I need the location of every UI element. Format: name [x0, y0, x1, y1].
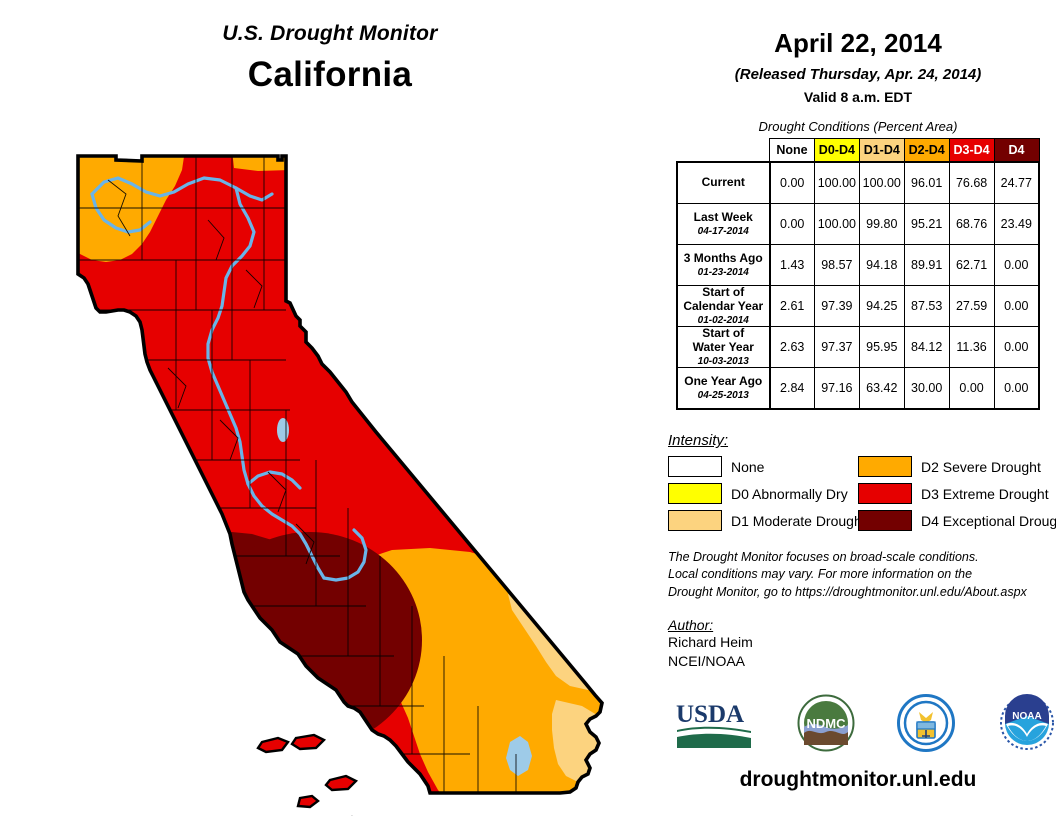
table-cell-value: 100.00: [814, 162, 859, 204]
legend-label: D0 Abnormally Dry: [731, 486, 848, 502]
table-row-label-line: Current: [678, 176, 769, 190]
drought-fill-layers: [0, 120, 660, 816]
table-cell-value: 63.42: [859, 368, 904, 410]
table-cell-value: 27.59: [949, 286, 994, 327]
table-cell-value: 2.84: [770, 368, 815, 410]
table-cell-value: 11.36: [949, 327, 994, 368]
california-drought-map[interactable]: [0, 120, 660, 816]
legend-item-none: None: [668, 456, 858, 477]
legend-swatch-d4: [858, 510, 912, 531]
table-row-date: 10-03-2013: [678, 356, 769, 368]
table-cell-value: 24.77: [994, 162, 1039, 204]
table-row-label: Start ofCalendar Year01-02-2014: [677, 286, 770, 327]
report-date: April 22, 2014: [660, 28, 1056, 59]
column-header-d3-d4: D3-D4: [949, 139, 994, 163]
table-cell-value: 2.63: [770, 327, 815, 368]
table-cell-value: 0.00: [994, 368, 1039, 410]
legend-item-d4: D4 Exceptional Drought: [858, 510, 1048, 531]
california-map-svg[interactable]: [0, 120, 660, 816]
legend-swatch-none: [668, 456, 722, 477]
column-header-d4: D4: [994, 139, 1039, 163]
disclaimer-text: The Drought Monitor focuses on broad-sca…: [668, 549, 1056, 601]
table-cell-value: 99.80: [859, 204, 904, 245]
island-santa-catalina: [326, 776, 356, 790]
table-row-label-line: Calendar Year: [678, 300, 769, 314]
table-row-label: Current: [677, 162, 770, 204]
table-cell-value: 0.00: [994, 245, 1039, 286]
logo-row: USDA NDMC: [674, 688, 1056, 762]
island-santa-cruz: [258, 738, 288, 752]
table-cell-value: 23.49: [994, 204, 1039, 245]
map-title-state: California: [0, 55, 660, 95]
legend-swatch-d0: [668, 483, 722, 504]
san-francisco-bay: [152, 540, 178, 566]
lake-tahoe: [277, 418, 289, 442]
table-cell-value: 76.68: [949, 162, 994, 204]
legend-label: D1 Moderate Drought: [731, 513, 866, 529]
table-cell-value: 0.00: [949, 368, 994, 410]
drought-conditions-table: None D0-D4 D1-D4 D2-D4 D3-D4 D4 Current0…: [676, 138, 1040, 410]
disclaimer-line-3: Drought Monitor, go to https://droughtmo…: [668, 584, 1056, 601]
table-cell-value: 95.95: [859, 327, 904, 368]
table-cell-value: 62.71: [949, 245, 994, 286]
date-block: April 22, 2014 (Released Thursday, Apr. …: [660, 0, 1056, 105]
table-cell-value: 96.01: [904, 162, 949, 204]
table-cell-value: 89.91: [904, 245, 949, 286]
table-cell-value: 94.25: [859, 286, 904, 327]
disclaimer-line-1: The Drought Monitor focuses on broad-sca…: [668, 549, 1056, 566]
legend-swatch-d1: [668, 510, 722, 531]
disclaimer-line-2: Local conditions may vary. For more info…: [668, 566, 1056, 583]
table-row-date: 01-23-2014: [678, 267, 769, 279]
table-row-label-line: Last Week: [678, 211, 769, 225]
legend-label: None: [731, 459, 764, 475]
table-cell-value: 94.18: [859, 245, 904, 286]
right-panel: April 22, 2014 (Released Thursday, Apr. …: [660, 0, 1056, 816]
noaa-logo: NOAA: [998, 694, 1056, 757]
svg-text:NOAA: NOAA: [1012, 711, 1041, 722]
table-row: Start ofWater Year10-03-20132.6397.3795.…: [677, 327, 1039, 368]
intensity-legend: NoneD2 Severe DroughtD0 Abnormally DryD3…: [668, 456, 1050, 531]
table-row-label: One Year Ago04-25-2013: [677, 368, 770, 410]
table-cell-value: 1.43: [770, 245, 815, 286]
table-cell-value: 98.57: [814, 245, 859, 286]
table-row-label: Start ofWater Year10-03-2013: [677, 327, 770, 368]
table-row: Last Week04-17-20140.00100.0099.8095.216…: [677, 204, 1039, 245]
table-cell-value: 97.37: [814, 327, 859, 368]
table-cell-value: 84.12: [904, 327, 949, 368]
table-cell-value: 68.76: [949, 204, 994, 245]
table-row-label: Last Week04-17-2014: [677, 204, 770, 245]
svg-text:USDA: USDA: [676, 701, 744, 728]
table-row: 3 Months Ago01-23-20141.4398.5794.1889.9…: [677, 245, 1039, 286]
table-cell-value: 100.00: [814, 204, 859, 245]
drought-area-d4-tulare-blob: [198, 532, 422, 748]
svg-text:NDMC: NDMC: [806, 716, 846, 731]
author-affiliation: NCEI/NOAA: [668, 652, 1056, 671]
table-cell-value: 95.21: [904, 204, 949, 245]
table-cell-value: 0.00: [994, 327, 1039, 368]
table-row-label: 3 Months Ago01-23-2014: [677, 245, 770, 286]
usda-logo: USDA: [674, 696, 754, 755]
channel-islands: [258, 735, 360, 816]
table-row-label-line: Start of: [678, 286, 769, 300]
table-row: Start ofCalendar Year01-02-20142.6197.39…: [677, 286, 1039, 327]
table-row: One Year Ago04-25-20132.8497.1663.4230.0…: [677, 368, 1039, 410]
legend-item-d2: D2 Severe Drought: [858, 456, 1048, 477]
legend-swatch-d2: [858, 456, 912, 477]
table-row-label-line: 3 Months Ago: [678, 252, 769, 266]
table-cell-value: 0.00: [994, 286, 1039, 327]
legend-label: D3 Extreme Drought: [921, 486, 1049, 502]
legend-label: D4 Exceptional Drought: [921, 513, 1056, 529]
table-body: Current0.00100.00100.0096.0176.6824.77La…: [677, 162, 1039, 409]
table-row-label-line: Start of: [678, 327, 769, 341]
author-heading: Author:: [668, 617, 1056, 633]
release-date: (Released Thursday, Apr. 24, 2014): [660, 66, 1056, 83]
table-cell-value: 100.00: [859, 162, 904, 204]
table-cell-value: 97.16: [814, 368, 859, 410]
table-cell-value: 87.53: [904, 286, 949, 327]
table-cell-value: 97.39: [814, 286, 859, 327]
island-santa-rosa: [292, 735, 324, 749]
legend-label: D2 Severe Drought: [921, 459, 1041, 475]
column-header-d1-d4: D1-D4: [859, 139, 904, 163]
table-row-label-line: One Year Ago: [678, 375, 769, 389]
column-header-none: None: [770, 139, 815, 163]
table-row-label-line: Water Year: [678, 341, 769, 355]
column-header-d2-d4: D2-D4: [904, 139, 949, 163]
table-row: Current0.00100.00100.0096.0176.6824.77: [677, 162, 1039, 204]
table-caption: Drought Conditions (Percent Area): [660, 119, 1056, 134]
table-header-row: None D0-D4 D1-D4 D2-D4 D3-D4 D4: [677, 139, 1039, 163]
table-corner-cell: [677, 139, 770, 163]
ndmc-logo: NDMC: [797, 694, 855, 757]
table-cell-value: 0.00: [770, 204, 815, 245]
legend-swatch-d3: [858, 483, 912, 504]
usdc-seal-logo: [897, 694, 955, 757]
author-name: Richard Heim: [668, 633, 1056, 652]
legend-item-d0: D0 Abnormally Dry: [668, 483, 858, 504]
table-row-date: 04-17-2014: [678, 226, 769, 238]
intensity-heading: Intensity:: [668, 432, 1056, 449]
table-cell-value: 0.00: [770, 162, 815, 204]
table-cell-value: 2.61: [770, 286, 815, 327]
footer-url[interactable]: droughtmonitor.unl.edu: [660, 768, 1056, 792]
map-panel: U.S. Drought Monitor California: [0, 0, 660, 816]
legend-item-d3: D3 Extreme Drought: [858, 483, 1048, 504]
map-title-block: U.S. Drought Monitor California: [0, 22, 660, 95]
table-row-date: 01-02-2014: [678, 315, 769, 327]
legend-item-d1: D1 Moderate Drought: [668, 510, 858, 531]
column-header-d0-d4: D0-D4: [814, 139, 859, 163]
island-san-clemente: [298, 796, 318, 807]
map-title-subtitle: U.S. Drought Monitor: [0, 22, 660, 46]
valid-time: Valid 8 a.m. EDT: [660, 89, 1056, 105]
table-cell-value: 30.00: [904, 368, 949, 410]
table-row-date: 04-25-2013: [678, 390, 769, 402]
